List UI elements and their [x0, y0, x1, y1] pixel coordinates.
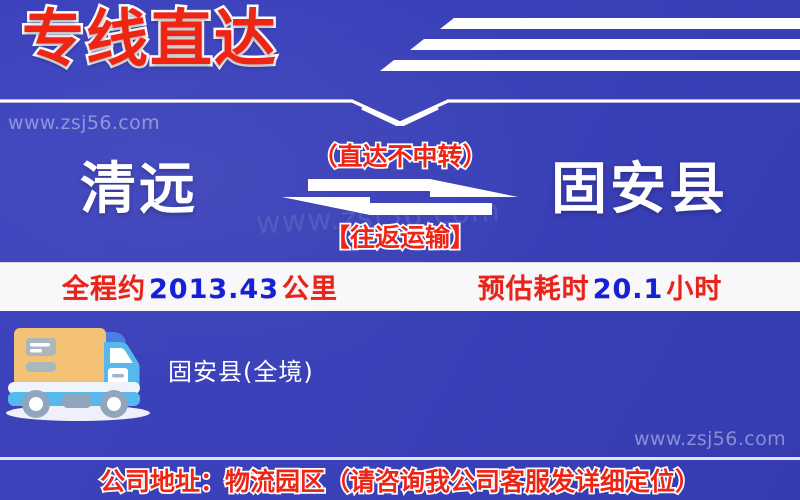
route-note-roundtrip: 【往返运输】: [280, 225, 520, 250]
top-banner: 专线直达: [0, 0, 800, 104]
stripe-1: [440, 18, 800, 29]
logistics-route-poster: 专线直达 www.zsj56.com www.zsj56.com www.zsj…: [0, 0, 800, 500]
distance-value: 2013.43: [146, 274, 282, 305]
duration-suffix: 小时: [666, 274, 722, 305]
duration-stat: 预估耗时20.1小时: [400, 267, 800, 306]
footer-bar: 公司地址：物流园区（请咨询我公司客服发详细定位）: [0, 460, 800, 500]
watermark-top-left: www.zsj56.com: [8, 112, 160, 134]
route-note-direct: （直达不中转）: [280, 144, 520, 169]
decorative-stripes: [340, 12, 800, 74]
page-title: 专线直达: [22, 8, 278, 70]
origin-city: 清远: [80, 162, 198, 218]
distance-prefix: 全程约: [62, 274, 146, 305]
distance-stat: 全程约2013.43公里: [0, 267, 400, 306]
watermark-bottom-right: www.zsj56.com: [634, 428, 786, 450]
distance-suffix: 公里: [282, 274, 338, 305]
stripe-3: [380, 60, 800, 71]
coverage-row: 固安县(全境): [0, 314, 800, 424]
company-address: 公司地址：物流园区（请咨询我公司客服发详细定位）: [100, 462, 700, 498]
stats-band: 全程约2013.43公里 预估耗时20.1小时: [0, 262, 800, 311]
destination-city: 固安县: [551, 162, 728, 218]
duration-prefix: 预估耗时: [478, 274, 590, 305]
route-middle-column: （直达不中转） 【往返运输】: [280, 136, 520, 256]
stripe-2: [410, 39, 800, 50]
double-arrow-icon: [280, 175, 520, 219]
coverage-label: 固安县(全境): [168, 352, 314, 387]
duration-value: 20.1: [590, 274, 667, 305]
delivery-truck-icon: [4, 316, 156, 424]
